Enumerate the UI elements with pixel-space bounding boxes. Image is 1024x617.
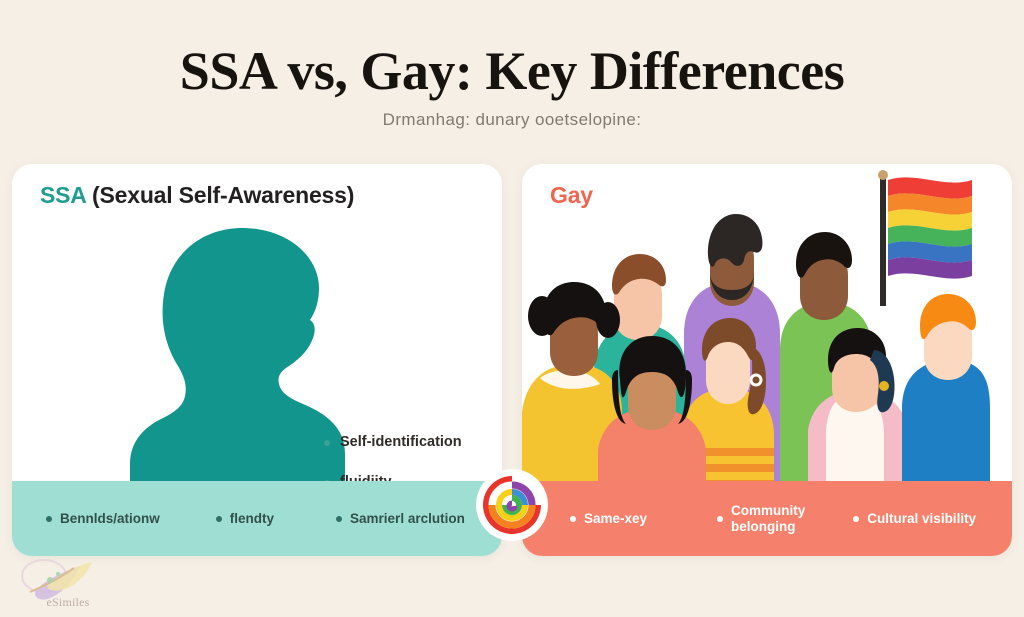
person-figure (902, 294, 990, 494)
status-badge: Community belonging (717, 503, 805, 534)
ssa-card-heading-accent: SSA (40, 182, 86, 208)
rainbow-flag-icon (888, 177, 972, 278)
status-badge-label: Bennlds/ationw (60, 511, 160, 526)
bullet-dot-icon (46, 516, 52, 522)
watermark-label: eSimiles (6, 595, 130, 610)
status-badge-label: Samrierl arclution (350, 511, 465, 526)
rainbow-spiral-icon (481, 474, 543, 536)
status-badge: Bennlds/ationw (46, 511, 160, 526)
page-header: SSA vs, Gay: Key Differences Drmanhag: d… (0, 0, 1024, 150)
rainbow-spiral-badge (481, 474, 543, 536)
gay-card-heading: Gay (550, 182, 593, 209)
bullet-dot-icon (336, 516, 342, 522)
bullet-dot-icon (853, 516, 859, 522)
status-badge: Samrierl arclution (336, 511, 465, 526)
page-subtitle: Drmanhag: dunary ooetselopine: (0, 98, 1024, 130)
ssa-card-footer-strip: Bennlds/ationw flendty Samrierl arclutio… (12, 481, 502, 556)
page-title: SSA vs, Gay: Key Differences (0, 0, 1024, 98)
ssa-card-heading-rest: (Sexual Self-Awareness) (86, 182, 354, 208)
gay-card: Gay Same-xey Community belonging Cultura… (522, 164, 1012, 556)
comparison-cards: SSA (Sexual Self-Awareness) Self-identif… (0, 164, 1024, 564)
person-profile-silhouette-icon (130, 226, 345, 496)
list-item: Self-identification (324, 434, 502, 450)
lgbtq-group-illustration (522, 164, 1012, 494)
status-badge-label: Cultural visibility (867, 511, 976, 526)
status-badge: Same-xey (570, 511, 647, 526)
bullet-dot-icon (570, 516, 576, 522)
status-badge: flendty (216, 511, 274, 526)
ssa-card-heading: SSA (Sexual Self-Awareness) (40, 182, 354, 209)
watermark: eSimiles (6, 554, 130, 612)
status-badge-label: Community belonging (731, 503, 805, 534)
bullet-dot-icon (717, 516, 723, 522)
status-badge-label: flendty (230, 511, 274, 526)
gay-card-footer-strip: Same-xey Community belonging Cultural vi… (522, 481, 1012, 556)
bullet-dot-icon (216, 516, 222, 522)
gay-card-heading-accent: Gay (550, 182, 593, 208)
status-badge-label: Same-xey (584, 511, 647, 526)
ssa-card: SSA (Sexual Self-Awareness) Self-identif… (12, 164, 502, 556)
status-badge: Cultural visibility (853, 511, 976, 526)
